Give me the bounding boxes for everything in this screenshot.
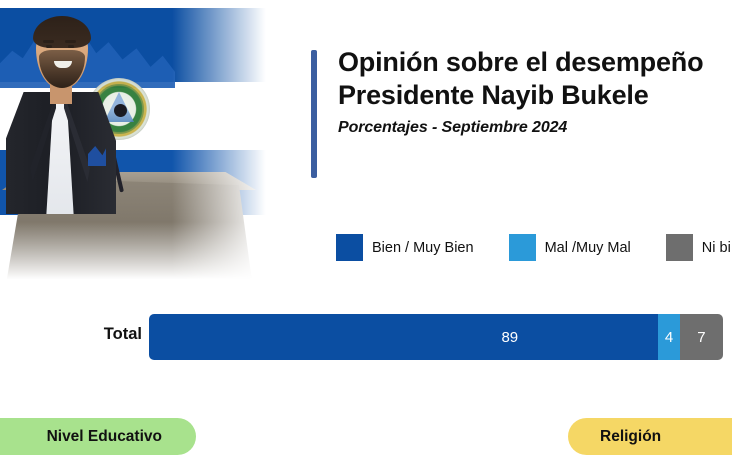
legend-label-mal: Mal /Muy Mal bbox=[545, 240, 631, 256]
legend-item-mal[interactable]: Mal /Muy Mal bbox=[509, 234, 631, 261]
eyebrow-right bbox=[65, 40, 76, 43]
president-figure bbox=[6, 14, 116, 214]
page-title-line1: Opinión sobre el desempeño bbox=[338, 46, 732, 79]
photo-fade-right bbox=[172, 0, 292, 292]
eye-right bbox=[68, 45, 74, 48]
bar-value-bien: 89 bbox=[501, 329, 518, 346]
bar-value-mal: 4 bbox=[665, 329, 673, 346]
eye-left bbox=[46, 45, 52, 48]
beard bbox=[39, 50, 85, 88]
bar-row-label-total: Total bbox=[94, 325, 142, 344]
bar-value-ni-bien-ni-mal: 7 bbox=[697, 329, 705, 346]
stacked-bar-chart: Total 89 4 7 bbox=[0, 314, 732, 362]
page-title-line2: Presidente Nayib Bukele bbox=[338, 79, 732, 112]
tab-nivel-educativo-label: Nivel Educativo bbox=[47, 428, 162, 446]
chart-legend: Bien / Muy Bien Mal /Muy Mal Ni bi bbox=[336, 234, 731, 261]
legend-swatch-mal bbox=[509, 234, 536, 261]
bar-segment-mal[interactable]: 4 bbox=[658, 314, 680, 360]
legend-swatch-bien bbox=[336, 234, 363, 261]
tab-religion-label: Religión bbox=[600, 428, 661, 446]
legend-item-ni-bien-ni-mal[interactable]: Ni bi bbox=[666, 234, 731, 261]
tab-nivel-educativo[interactable]: Nivel Educativo bbox=[0, 418, 196, 455]
bar-segment-bien[interactable]: 89 bbox=[149, 314, 658, 360]
tab-religion[interactable]: Religión bbox=[568, 418, 732, 455]
eyebrow-left bbox=[43, 40, 54, 43]
president-photo bbox=[0, 0, 292, 292]
legend-item-bien[interactable]: Bien / Muy Bien bbox=[336, 234, 474, 261]
infographic-slide: Opinión sobre el desempeño Presidente Na… bbox=[0, 0, 732, 458]
legend-label-ni-bien-ni-mal: Ni bi bbox=[702, 240, 731, 256]
page-subtitle: Porcentajes - Septiembre 2024 bbox=[338, 119, 732, 137]
bar-segment-ni-bien-ni-mal[interactable]: 7 bbox=[680, 314, 723, 360]
title-accent-bar bbox=[311, 50, 317, 178]
legend-swatch-ni-bien-ni-mal bbox=[666, 234, 693, 261]
hair bbox=[33, 16, 91, 48]
legend-label-bien: Bien / Muy Bien bbox=[372, 240, 474, 256]
bar-row-total[interactable]: 89 4 7 bbox=[149, 314, 723, 360]
